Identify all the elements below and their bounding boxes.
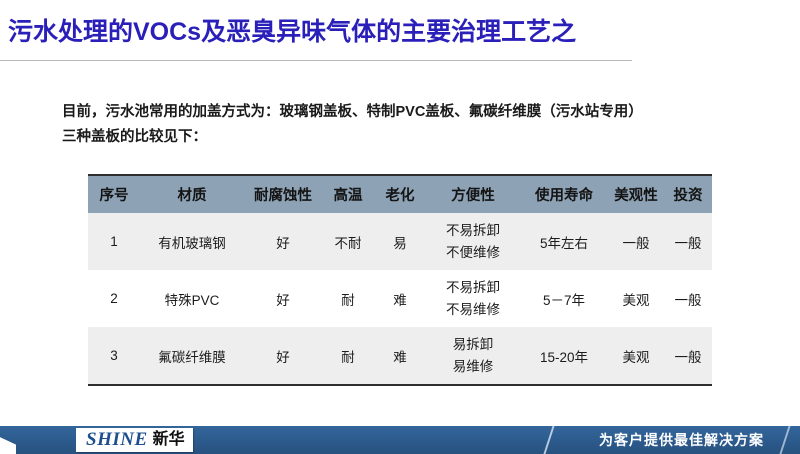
cell-corrosion: 好 [244,213,322,270]
cell-temperature: 不耐 [322,213,374,270]
cell-no: 1 [88,213,140,270]
cell-convenience-line-2: 不便维修 [446,242,500,264]
column-header-convenience: 方便性 [426,175,520,213]
cell-convenience: 不易拆卸 不易维修 [426,270,520,327]
body-paragraph: 目前，污水池常用的加盖方式为：玻璃钢盖板、特制PVC盖板、氟碳纤维膜（污水站专用… [62,100,782,150]
cell-temperature: 耐 [322,327,374,385]
column-header-aging: 老化 [374,175,426,213]
cell-corrosion: 好 [244,270,322,327]
table-header-row: 序号 材质 耐腐蚀性 高温 老化 方便性 使用寿命 美观性 投资 [88,175,712,213]
column-header-cost: 投资 [664,175,712,213]
cell-convenience-line-1: 不易拆卸 [446,220,500,242]
cell-cost: 一般 [664,213,712,270]
cell-convenience-line-1: 易拆卸 [453,334,494,356]
cell-appearance: 美观 [608,327,664,385]
column-header-temperature: 高温 [322,175,374,213]
cell-material: 有机玻璃钢 [140,213,244,270]
cell-convenience-line-1: 不易拆卸 [446,277,500,299]
table-row: 3 氟碳纤维膜 好 耐 难 易拆卸 易维修 15-20年 美观 一般 [88,327,712,385]
cover-plate-comparison-table: 序号 材质 耐腐蚀性 高温 老化 方便性 使用寿命 美观性 投资 1 有机玻璃钢… [88,174,712,386]
logo-text-en: SHINE [86,430,148,450]
column-header-no: 序号 [88,175,140,213]
cell-corrosion: 好 [244,327,322,385]
column-header-corrosion: 耐腐蚀性 [244,175,322,213]
footer-tagline: 为客户提供最佳解决方案 [599,426,764,454]
cell-lifespan: 5－7年 [520,270,608,327]
cell-convenience-line-2: 易维修 [453,356,494,378]
cell-no: 3 [88,327,140,385]
footer-corner-wedge [0,426,16,454]
cell-no: 2 [88,270,140,327]
cell-convenience: 不易拆卸 不便维修 [426,213,520,270]
cell-appearance: 美观 [608,270,664,327]
footer-bar: SHINE 新华 为客户提供最佳解决方案 [0,426,800,454]
cell-aging: 难 [374,270,426,327]
title-divider [0,60,632,61]
footer-divider-left [543,426,554,454]
cell-cost: 一般 [664,270,712,327]
body-line-2: 三种盖板的比较见下： [62,125,782,150]
cell-convenience-line-2: 不易维修 [446,299,500,321]
cell-aging: 易 [374,213,426,270]
cell-convenience: 易拆卸 易维修 [426,327,520,385]
column-header-lifespan: 使用寿命 [520,175,608,213]
cell-lifespan: 5年左右 [520,213,608,270]
cell-appearance: 一般 [608,213,664,270]
footer-divider-right [779,426,790,454]
cell-material: 氟碳纤维膜 [140,327,244,385]
table-row: 2 特殊PVC 好 耐 难 不易拆卸 不易维修 5－7年 美观 一般 [88,270,712,327]
cell-temperature: 耐 [322,270,374,327]
cell-cost: 一般 [664,327,712,385]
cell-material: 特殊PVC [140,270,244,327]
column-header-material: 材质 [140,175,244,213]
company-logo: SHINE 新华 [76,428,193,452]
page-title: 污水处理的VOCs及恶臭异味气体的主要治理工艺之 [8,16,576,48]
table-row: 1 有机玻璃钢 好 不耐 易 不易拆卸 不便维修 5年左右 一般 一般 [88,213,712,270]
logo-text-cn: 新华 [153,431,185,449]
cell-lifespan: 15-20年 [520,327,608,385]
body-line-1: 目前，污水池常用的加盖方式为：玻璃钢盖板、特制PVC盖板、氟碳纤维膜（污水站专用… [62,100,782,125]
column-header-appearance: 美观性 [608,175,664,213]
cell-aging: 难 [374,327,426,385]
